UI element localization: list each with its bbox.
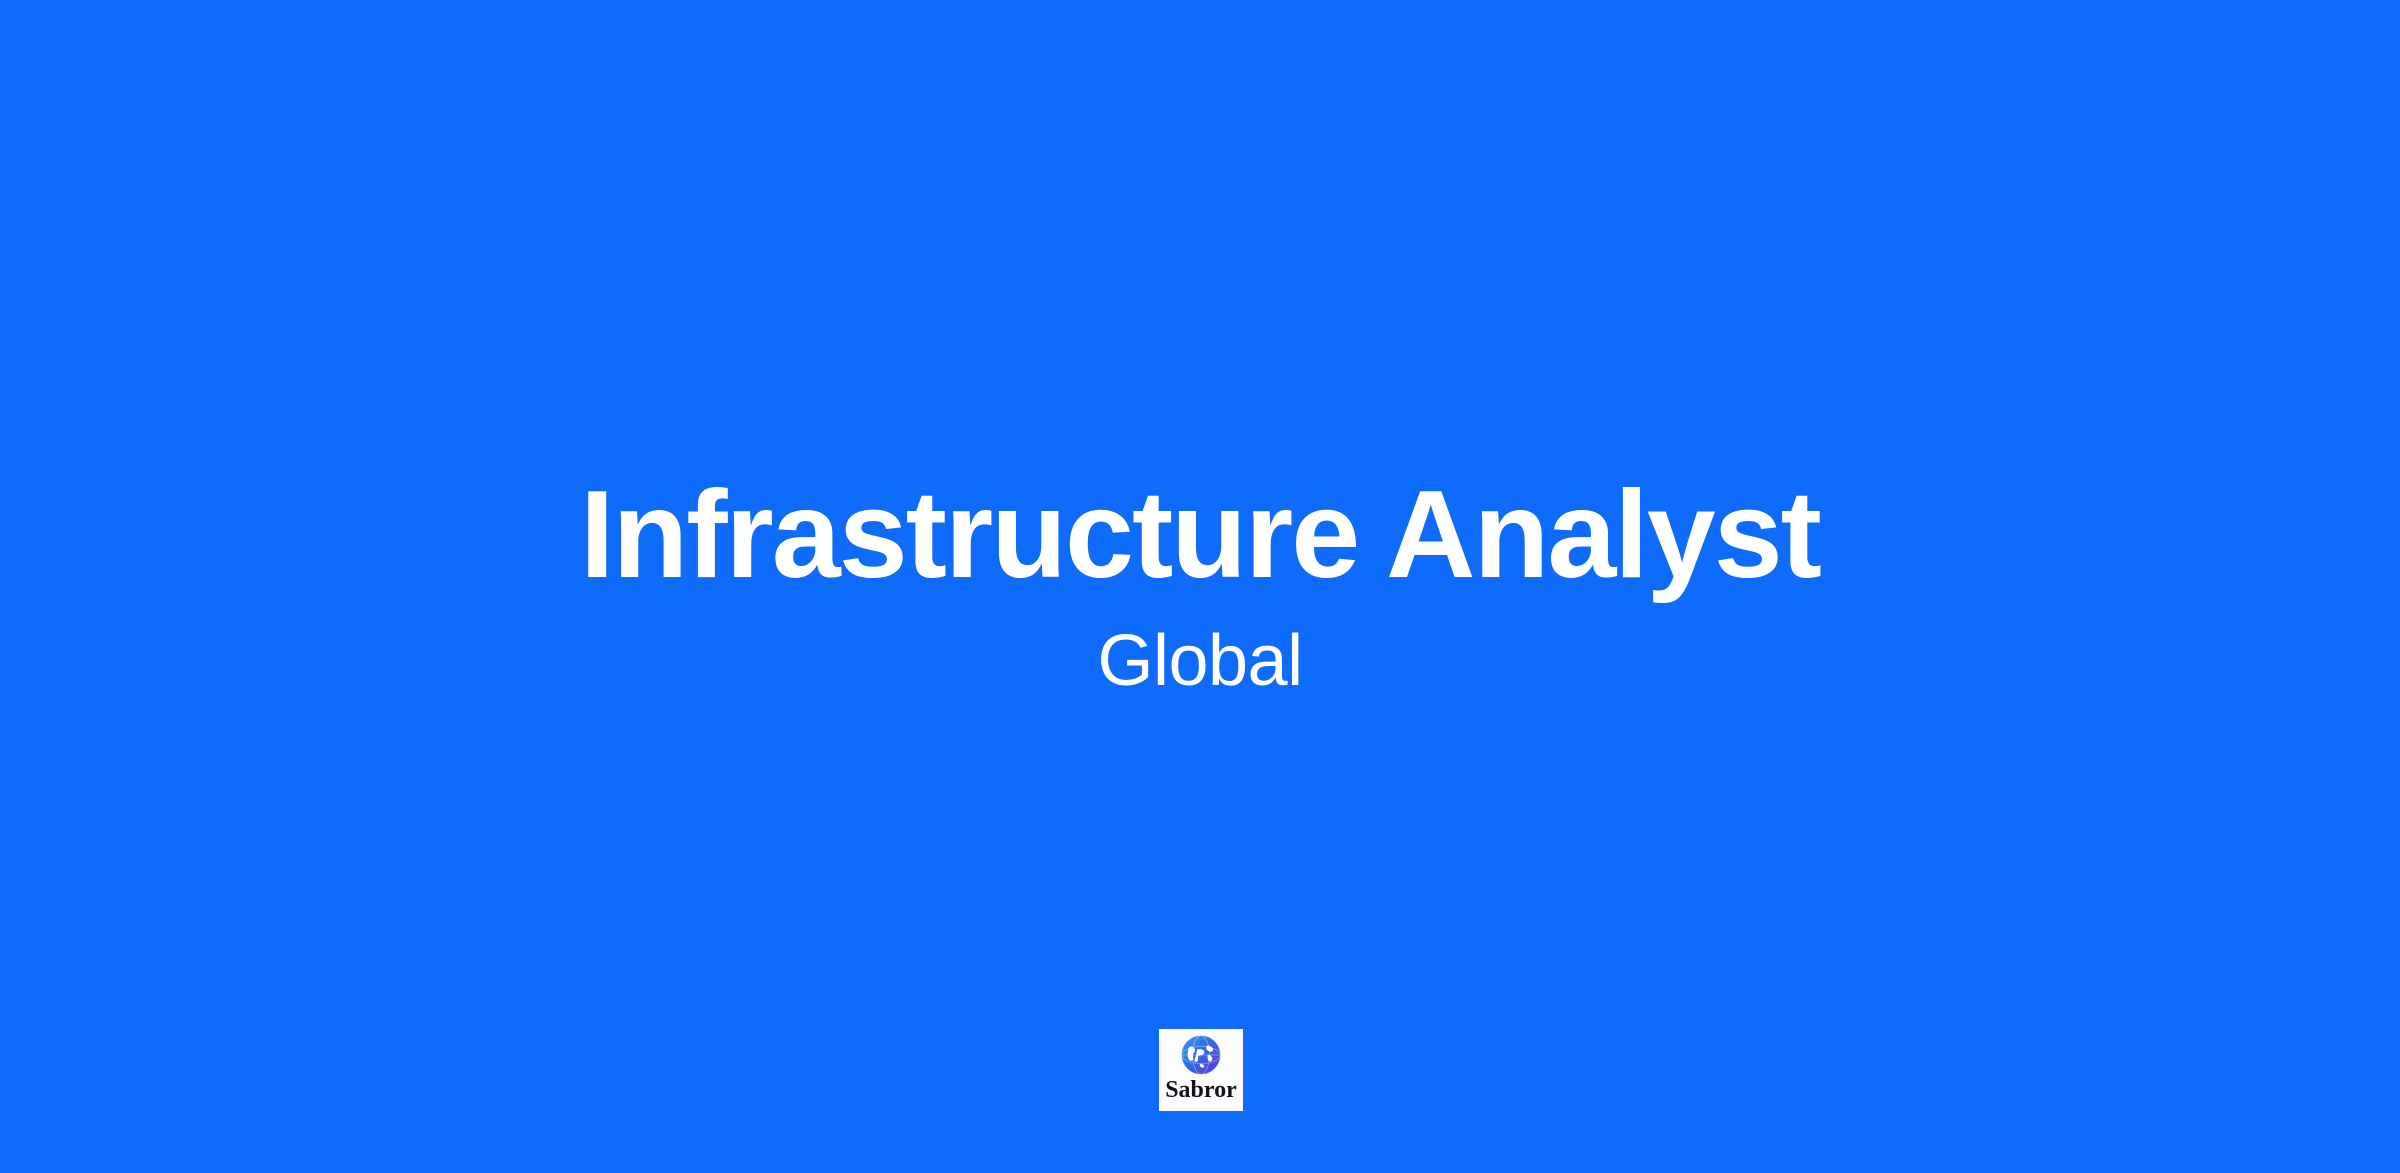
brand-wordmark: Sabror xyxy=(1165,1078,1237,1102)
globe-icon xyxy=(1180,1034,1222,1076)
page-subtitle: Global xyxy=(1097,620,1302,703)
hero-text-block: Infrastructure Analyst Global xyxy=(0,0,2400,1173)
job-posting-hero-slide: Infrastructure Analyst Global xyxy=(0,0,2400,1173)
page-title: Infrastructure Analyst xyxy=(580,470,1820,601)
brand-logo-badge: Sabror xyxy=(1159,1029,1243,1111)
